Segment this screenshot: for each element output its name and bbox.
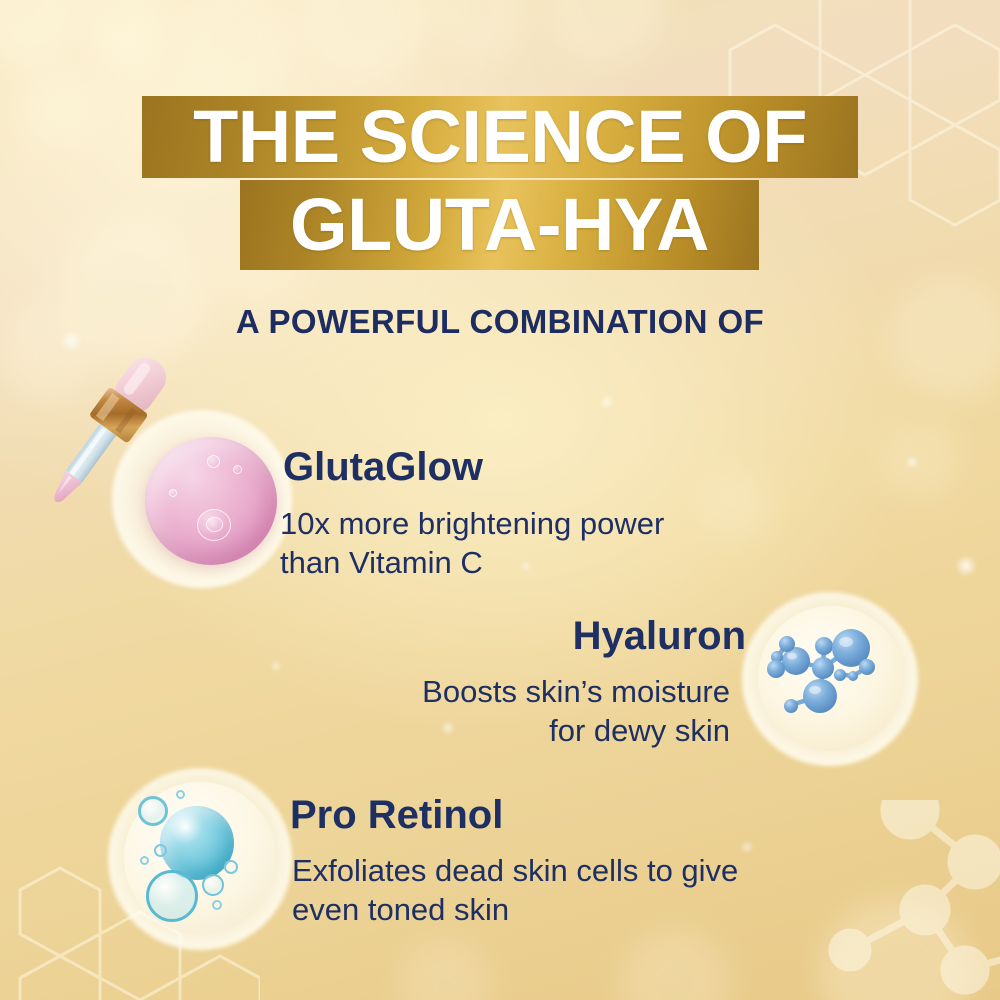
ingredient-name-proretinol: Pro Retinol: [270, 791, 600, 839]
dropper-icon: [28, 348, 218, 528]
ingredient-description-glutaglow: 10x more brightening power than Vitamin …: [280, 504, 750, 583]
molecule-pattern-bottom-right: [790, 800, 1000, 1000]
infographic-poster: THE SCIENCE OF GLUTA-HYA A POWERFUL COMB…: [0, 0, 1000, 1000]
teal-bubbles-icon: [124, 782, 276, 934]
subtitle: A POWERFUL COMBINATION OF: [0, 303, 1000, 341]
blue-molecule-icon: [758, 606, 904, 751]
title-banner-line-1: THE SCIENCE OF: [142, 96, 858, 178]
title-banner-line-2: GLUTA-HYA: [240, 180, 759, 270]
ingredient-description-hyaluron: Boosts skin’s moisture for dewy skin: [360, 672, 730, 751]
ingredient-name-glutaglow: GlutaGlow: [265, 443, 537, 491]
title-line-1-text: THE SCIENCE OF: [193, 100, 807, 174]
title-line-2-text: GLUTA-HYA: [290, 188, 709, 262]
ingredient-name-hyaluron: Hyaluron: [528, 612, 764, 660]
ingredient-description-proretinol: Exfoliates dead skin cells to give even …: [292, 851, 762, 930]
